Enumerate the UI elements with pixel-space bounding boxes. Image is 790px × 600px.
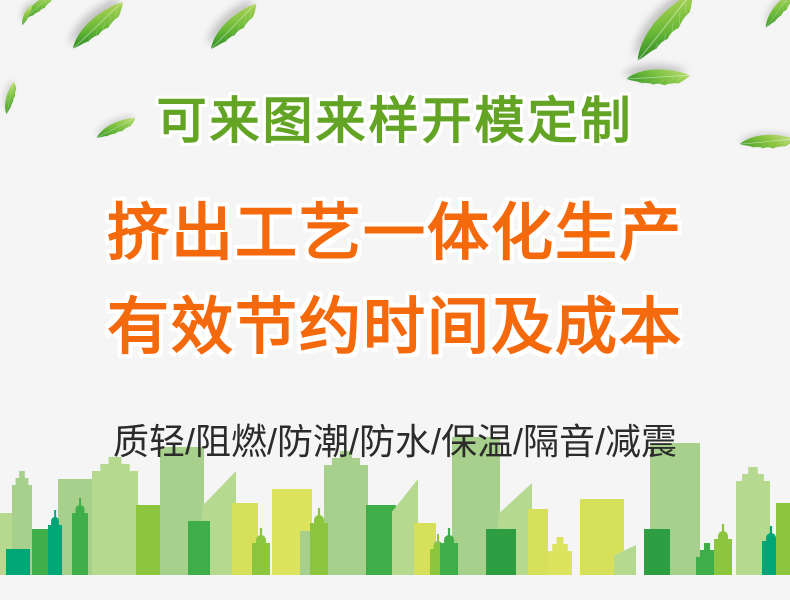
- leaf-upper-left: [64, 1, 133, 49]
- bldg-26: [486, 529, 516, 575]
- leaf-far-right-top: [757, 0, 790, 28]
- headline-orange-line-2: 有效节约时间及成本: [0, 297, 790, 359]
- bldg-27: [528, 509, 548, 575]
- leaf-top-left-tiny: [17, 4, 37, 25]
- bldg-37: [776, 503, 790, 575]
- bldg-17: [324, 451, 368, 575]
- leaf-right-big: [622, 0, 708, 61]
- bldg-34: [714, 524, 732, 575]
- headline-orange-line-1: 挤出工艺一体化生产: [0, 203, 790, 265]
- promo-banner: 可来图来样开模定制 挤出工艺一体化生产 有效节约时间及成本 质轻/阻燃/防潮/防…: [0, 0, 790, 600]
- bldg-07: [92, 457, 138, 575]
- headline-green: 可来图来样开模定制: [0, 96, 790, 146]
- leaf-right-upper: [626, 58, 690, 96]
- feature-list: 质轻/阻燃/防潮/防水/保温/隔音/减震: [0, 424, 790, 460]
- bldg-03: [6, 549, 30, 575]
- bldg-32: [644, 529, 670, 575]
- leaf-center-top: [201, 3, 265, 49]
- leaf-top-left-small: [19, 0, 59, 20]
- bldg-28: [548, 537, 572, 575]
- bldg-19: [366, 505, 396, 575]
- bldg-12: [188, 521, 210, 575]
